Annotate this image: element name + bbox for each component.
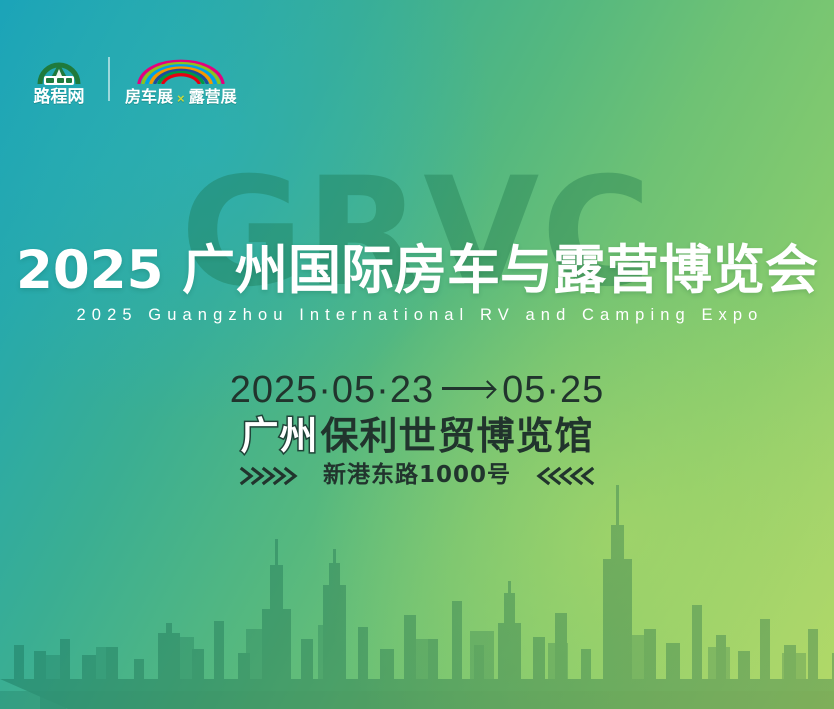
logo-lucheng-label: 路程网 [34,88,85,106]
logo-rv-camping-expo[interactable]: 房车展 × 露营展 [125,52,237,106]
venue-name: 保利世贸博览馆 [321,414,594,458]
chevrons-right-icon [239,465,301,487]
main-title-english: 2025 Guangzhou International RV and Camp… [0,307,834,324]
main-title-chinese: 2025 广州国际房车与露营博览会 [0,243,834,299]
rainbow-arcs-icon [133,52,229,89]
date-range-arrow-icon [442,381,494,393]
venue-city: 广州 [240,414,318,458]
event-address-row: 新港东路1000号 [0,464,834,487]
chevrons-left-icon [533,465,595,487]
event-address: 新港东路1000号 [323,464,511,487]
event-venue: 广州保利世贸博览馆 [0,415,834,459]
logo-divider [108,57,110,101]
logo-part-two: 露营展 [189,90,237,106]
event-date: 2025·05·2305·25 [0,371,834,409]
city-skyline-silhouette [0,479,834,709]
logo-lucheng[interactable]: 路程网 [22,52,96,106]
title-block: 2025 广州国际房车与露营博览会 2025 Guangzhou Interna… [0,243,834,323]
tent-in-circle-icon [36,52,82,91]
expo-poster: GRVC [0,0,834,709]
logo-rv-camping-expo-label: 房车展 × 露营展 [125,90,237,106]
logo-separator: × [177,92,185,105]
event-date-start: 2025·05·23 [230,369,434,411]
brand-logo-bar: 路程网 房车展 × [22,50,237,108]
logo-part-one: 房车展 [125,90,173,106]
event-date-end: 05·25 [502,369,604,411]
